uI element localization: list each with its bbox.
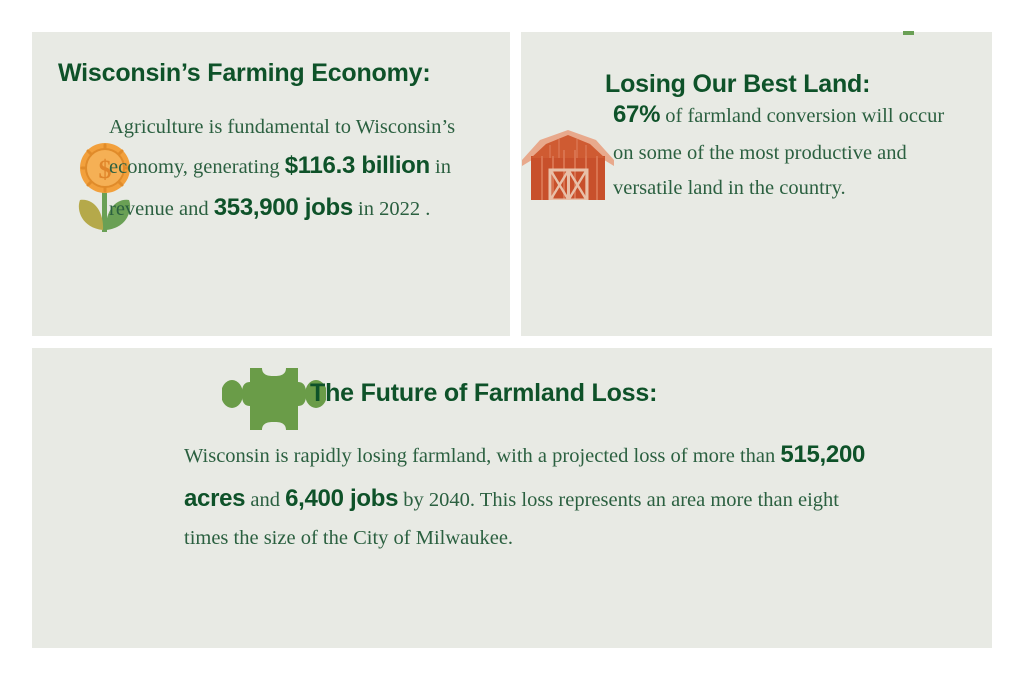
card-heading-farming-economy: Wisconsin’s Farming Economy: [58,58,430,88]
body-text-segment: of farmland conversion will occur on som… [613,105,944,199]
card-future-farmland-loss: The Future of Farmland Loss: Wisconsin i… [32,348,992,648]
card-farming-economy: Wisconsin’s Farming Economy: [32,32,510,336]
highlight-jobs-lost: 6,400 jobs [285,485,398,512]
card-body-future-farmland-loss: Wisconsin is rapidly losing farmland, wi… [184,433,884,558]
body-text-segment: in 2022 . [353,198,430,220]
highlight-percent: 67% [613,101,660,128]
card-body-losing-best-land: 67% of farmland conversion will occur on… [613,94,963,206]
card-heading-future-farmland-loss: The Future of Farmland Loss: [310,378,657,408]
highlight-revenue: $116.3 billion [285,152,430,179]
body-text-segment: and [245,489,285,511]
infographic-page: Wisconsin’s Farming Economy: [0,0,1024,682]
clipped-green-mark [903,31,914,35]
barn-icon [522,128,614,200]
highlight-jobs: 353,900 jobs [214,194,353,221]
card-body-farming-economy: Agriculture is fundamental to Wisconsin’… [109,110,479,228]
body-text-segment: Wisconsin is rapidly losing farmland, wi… [184,445,780,467]
